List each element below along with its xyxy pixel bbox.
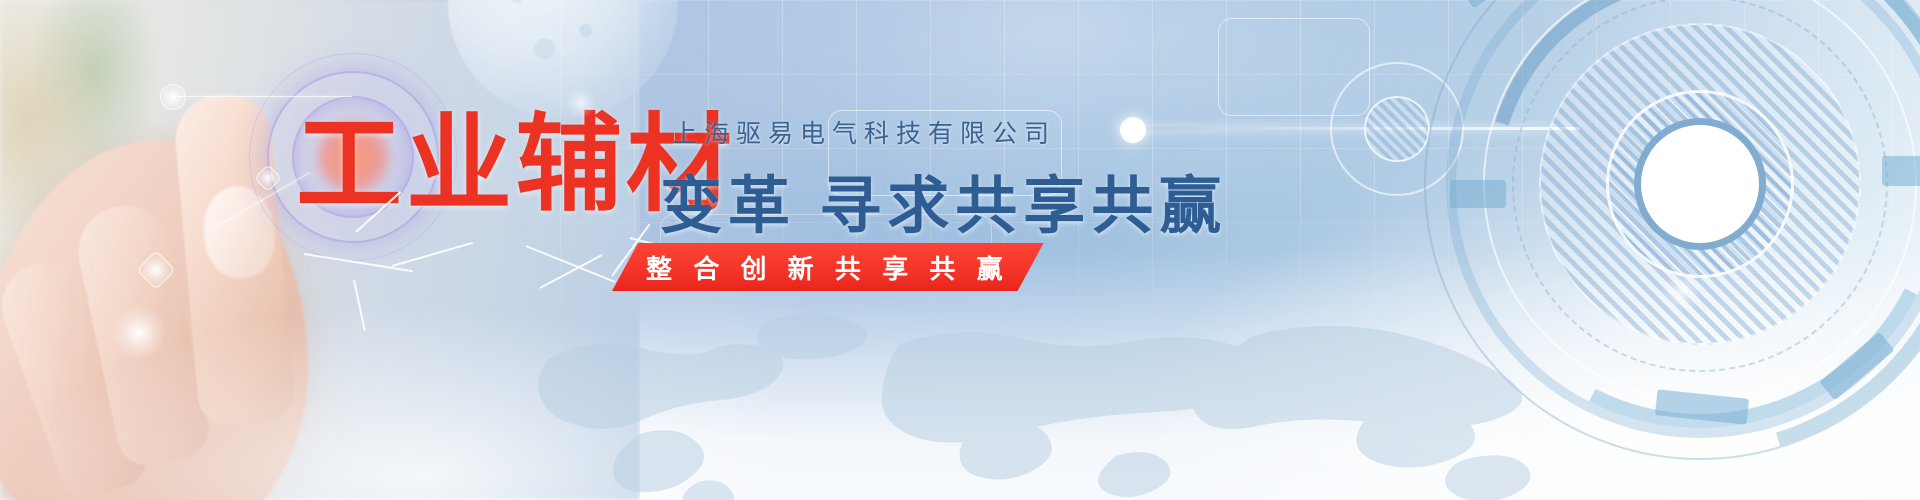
connector-wire-1 (172, 96, 352, 97)
hud-core-dot (1678, 162, 1722, 206)
node-dot-1 (160, 84, 186, 110)
node-dot-2 (1120, 117, 1146, 143)
world-map-icon (430, 298, 1660, 500)
slogan-ribbon: 整 合 创 新 共 享 共 赢 (612, 243, 1044, 291)
slogan-text: 整 合 创 新 共 享 共 赢 (646, 249, 1010, 286)
company-name: 上海驱易电气科技有限公司 (672, 114, 1056, 150)
hud-segment-4 (1450, 180, 1506, 208)
hud-segment-3 (1882, 156, 1920, 186)
banner-subtitle: 变革 寻求共享共赢 (660, 155, 1227, 245)
hero-banner: 工业辅材 上海驱易电气科技有限公司 变革 寻求共享共赢 整 合 创 新 共 享 … (0, 0, 1920, 500)
